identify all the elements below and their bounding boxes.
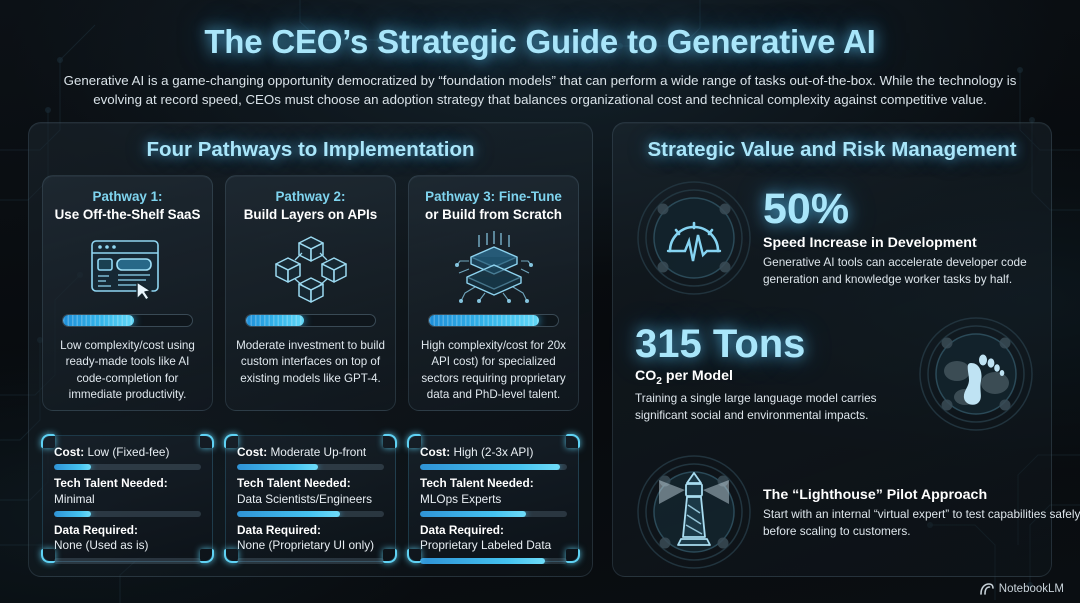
- detail-key: Data Required:: [420, 523, 504, 537]
- stat-description: Generative AI tools can accelerate devel…: [763, 254, 1035, 288]
- pathway-heading-rest: Build Layers on APIs: [244, 207, 377, 222]
- pathway-heading-rest: Use Off-the-Shelf SaaS: [55, 207, 201, 222]
- detail-row: Tech Talent Needed:MLOps Experts: [420, 476, 567, 507]
- header: The CEO’s Strategic Guide to Generative …: [0, 0, 1080, 112]
- page-title: The CEO’s Strategic Guide to Generative …: [0, 23, 1080, 61]
- pathway-meter: [62, 314, 193, 327]
- stat-heading: The “Lighthouse” Pilot Approach: [763, 487, 1080, 503]
- stat-value: 50%: [763, 188, 1035, 232]
- detail-key: Tech Talent Needed:: [420, 476, 534, 490]
- stat-heading: Speed Increase in Development: [763, 235, 1035, 251]
- pathway-meter-fill: [63, 315, 134, 326]
- pathway-heading: Pathway 2: Build Layers on APIs: [244, 188, 377, 224]
- detail-row: Tech Talent Needed:Minimal: [54, 476, 201, 507]
- pathway-meter: [245, 314, 376, 327]
- pathway-description: High complexity/cost for 20x API cost) f…: [419, 338, 568, 404]
- pathway-card[interactable]: Pathway 1: Use Off-the-Shelf SaaS: [42, 175, 213, 411]
- detail-meter: [420, 511, 567, 517]
- pathway-heading-highlight: Pathway 1:: [93, 189, 163, 204]
- lighthouse-icon: [635, 453, 753, 571]
- detail-meter: [54, 464, 201, 470]
- detail-row: Tech Talent Needed:Data Scientists/Engin…: [237, 476, 384, 507]
- detail-value: MLOps Experts: [420, 492, 501, 506]
- page-subtitle: Generative AI is a game-changing opportu…: [57, 72, 1023, 110]
- detail-meter: [237, 511, 384, 517]
- neural-chip-stack-icon: [455, 226, 533, 312]
- corner-bracket: [200, 549, 214, 563]
- detail-value: High (2-3x API): [453, 445, 533, 459]
- stat-value: 315 Tons: [635, 324, 905, 365]
- corner-bracket: [566, 434, 580, 448]
- detail-meter: [54, 558, 201, 564]
- detail-meter: [54, 511, 201, 517]
- detail-meter: [237, 558, 384, 564]
- detail-value: None (Proprietary UI only): [237, 538, 374, 552]
- detail-key: Cost:: [420, 445, 450, 459]
- detail-meter: [420, 558, 567, 564]
- stat-body: The “Lighthouse” Pilot Approach Start wi…: [753, 484, 1080, 540]
- detail-value: Low (Fixed-fee): [87, 445, 169, 459]
- corner-bracket: [383, 549, 397, 563]
- detail-key: Data Required:: [54, 523, 138, 537]
- detail-key: Data Required:: [237, 523, 321, 537]
- detail-card-list: Cost: Low (Fixed-fee) Tech Talent Needed…: [42, 435, 579, 562]
- stat-heading: CO2 per Model: [635, 368, 905, 387]
- detail-meter: [237, 464, 384, 470]
- detail-value: Proprietary Labeled Data: [420, 538, 551, 552]
- detail-card[interactable]: Cost: High (2-3x API) Tech Talent Needed…: [408, 435, 579, 562]
- detail-row: Cost: Moderate Up-front: [237, 445, 384, 460]
- detail-card[interactable]: Cost: Low (Fixed-fee) Tech Talent Needed…: [42, 435, 213, 562]
- speed-gauge-pulse-icon: [635, 179, 753, 297]
- detail-key: Tech Talent Needed:: [54, 476, 168, 490]
- notebooklm-logo-icon: [980, 583, 994, 595]
- stat-description: Start with an internal “virtual expert” …: [763, 506, 1080, 540]
- stat-speed-increase: 50% Speed Increase in Development Genera…: [635, 179, 1035, 297]
- corner-bracket: [41, 549, 55, 563]
- detail-key: Cost:: [237, 445, 267, 459]
- detail-row: Data Required:None (Proprietary UI only): [237, 523, 384, 554]
- pathways-panel-title: Four Pathways to Implementation: [29, 138, 592, 162]
- corner-bracket: [407, 434, 421, 448]
- stat-body: 50% Speed Increase in Development Genera…: [753, 188, 1035, 287]
- value-risk-panel: Strategic Value and Risk Management 50%: [612, 122, 1052, 577]
- detail-row: Cost: High (2-3x API): [420, 445, 567, 460]
- detail-key: Tech Talent Needed:: [237, 476, 351, 490]
- pathways-panel: Four Pathways to Implementation Pathway …: [28, 122, 593, 577]
- pathway-heading-highlight: Pathway 2:: [276, 189, 346, 204]
- detail-card[interactable]: Cost: Moderate Up-front Tech Talent Need…: [225, 435, 396, 562]
- corner-bracket: [41, 434, 55, 448]
- pathway-heading: Pathway 3: Fine-Tune or Build from Scrat…: [425, 188, 562, 224]
- detail-value: Moderate Up-front: [270, 445, 366, 459]
- detail-row: Data Required:Proprietary Labeled Data: [420, 523, 567, 554]
- detail-value: Minimal: [54, 492, 95, 506]
- browser-window-cursor-icon: [89, 226, 167, 312]
- pathway-meter: [428, 314, 559, 327]
- detail-meter: [420, 464, 567, 470]
- detail-value: None (Used as is): [54, 538, 148, 552]
- detail-value: Data Scientists/Engineers: [237, 492, 372, 506]
- corner-bracket: [224, 549, 238, 563]
- pathway-meter-fill: [429, 315, 539, 326]
- corner-bracket: [224, 434, 238, 448]
- watermark-label: NotebookLM: [999, 583, 1064, 595]
- detail-row: Cost: Low (Fixed-fee): [54, 445, 201, 460]
- corner-bracket: [407, 549, 421, 563]
- pathway-description: Moderate investment to build custom inte…: [236, 338, 385, 387]
- stat-description: Training a single large language model c…: [635, 390, 905, 424]
- pathway-heading: Pathway 1: Use Off-the-Shelf SaaS: [55, 188, 201, 224]
- notebooklm-watermark: NotebookLM: [980, 583, 1064, 595]
- corner-bracket: [383, 434, 397, 448]
- pathway-meter-fill: [246, 315, 304, 326]
- stat-lighthouse-pilot: The “Lighthouse” Pilot Approach Start wi…: [635, 453, 1035, 571]
- corner-bracket: [566, 549, 580, 563]
- corner-bracket: [200, 434, 214, 448]
- pathway-heading-highlight: Pathway 3: Fine-Tune: [425, 189, 562, 204]
- pathway-description: Low complexity/cost using ready-made too…: [53, 338, 202, 404]
- stat-heading-prefix: CO: [635, 368, 656, 384]
- detail-row: Data Required:None (Used as is): [54, 523, 201, 554]
- pathway-card-list: Pathway 1: Use Off-the-Shelf SaaS: [42, 175, 579, 411]
- pathway-card[interactable]: Pathway 2: Build Layers on APIs Moderat: [225, 175, 396, 411]
- pathway-heading-rest: or Build from Scratch: [425, 207, 562, 222]
- detail-key: Cost:: [54, 445, 84, 459]
- stat-body: 315 Tons CO2 per Model Training a single…: [635, 324, 917, 423]
- connected-cubes-icon: [275, 226, 347, 312]
- stat-heading-suffix: per Model: [662, 368, 733, 384]
- pathway-card[interactable]: Pathway 3: Fine-Tune or Build from Scrat…: [408, 175, 579, 411]
- stat-co2-per-model: 315 Tons CO2 per Model Training a single…: [635, 315, 1035, 433]
- value-risk-panel-title: Strategic Value and Risk Management: [613, 138, 1051, 162]
- carbon-footprint-icon: [917, 315, 1035, 433]
